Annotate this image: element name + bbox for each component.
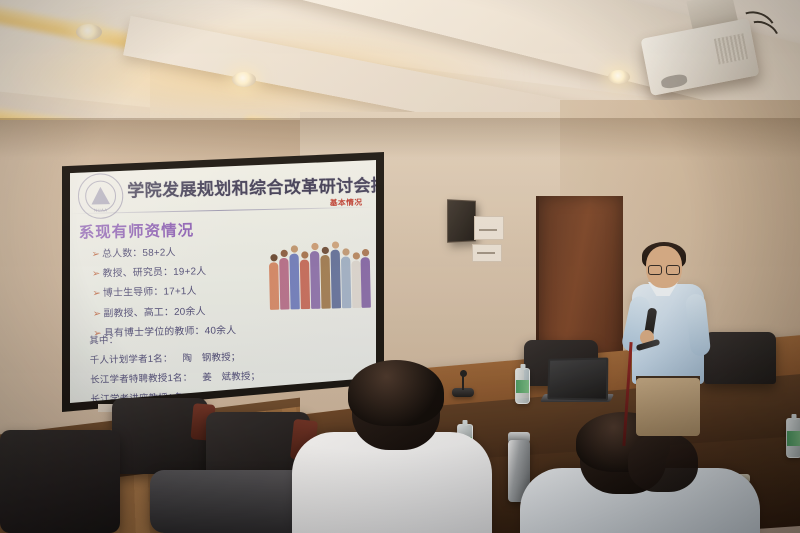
clipart-person-head [270, 254, 277, 261]
list-item: ➢博士生导师：17+1人 [92, 281, 288, 300]
seal-emblem-icon [91, 187, 110, 205]
bullet-marker-icon: ➢ [91, 249, 100, 261]
water-bottle-1 [515, 368, 530, 404]
microphone-head-icon [460, 370, 467, 377]
detail-role: 千人计划学者1名： [90, 353, 173, 365]
bottle-label [787, 431, 800, 446]
bullet-marker-icon: ➢ [92, 268, 101, 280]
clipart-person [330, 250, 341, 309]
audience-hair [348, 360, 444, 426]
glasses-icon [648, 265, 680, 273]
clipart-person [361, 257, 371, 308]
presenter-pants [636, 378, 700, 436]
conference-room-photo: 安全出口 NUAA 学院发展规划和综合改革研讨会控制系汇报 基本情况 系现有师资… [0, 0, 800, 533]
clipart-person-head [352, 252, 359, 259]
wall-panel-line-2 [477, 252, 495, 254]
clipart-person [269, 262, 279, 310]
clipart-person [320, 255, 330, 309]
projector-vent [714, 33, 748, 64]
wall-ceiling-shadow [0, 118, 800, 158]
group-of-people-illustration [267, 244, 371, 310]
clipart-person-head [290, 245, 297, 252]
microphone-stand [622, 342, 632, 446]
clipart-person [279, 258, 289, 310]
projector-lens [660, 73, 688, 90]
clipart-person [341, 257, 351, 309]
list-item: ➢总人数：58+2人 [91, 241, 287, 260]
clipart-person [300, 260, 310, 310]
bullet-text: 副教授、高工：20余人 [103, 306, 205, 320]
presentation-laptop[interactable] [547, 357, 608, 400]
clipart-person-head [331, 241, 338, 248]
wall-speaker [447, 199, 476, 243]
bullet-text: 教授、研究员：19+2人 [102, 266, 206, 280]
slide-heading: 系现有师资情况 [78, 219, 194, 243]
downlight-3 [608, 70, 630, 84]
clipart-person [310, 251, 321, 309]
clipart-person-head [311, 243, 318, 250]
wall-panel-lower [472, 244, 502, 262]
presentation-slide: NUAA 学院发展规划和综合改革研讨会控制系汇报 基本情况 系现有师资情况 ➢总… [70, 160, 376, 403]
bullet-marker-icon: ➢ [92, 288, 101, 300]
detail-name: 陶 钢教授； [172, 349, 240, 365]
audience-head [628, 432, 698, 492]
clipart-person-head [301, 251, 308, 258]
detail-role: 长江学者特聘教授1名： [90, 372, 192, 385]
list-item: 千人计划学者1名：陶 钢教授； [90, 346, 373, 367]
clipart-person-head [361, 249, 368, 256]
wall-panel-upper [474, 216, 504, 240]
clipart-person-head [321, 247, 328, 254]
downlight-1 [76, 24, 102, 40]
list-item: ➢副教授、高工：20余人 [93, 301, 289, 320]
clipart-person-head [342, 248, 349, 255]
bullet-text: 总人数：58+2人 [102, 247, 176, 260]
bullet-marker-icon: ➢ [93, 308, 102, 320]
detail-name: 姜 斌教授； [192, 368, 260, 384]
water-bottle-4 [786, 418, 800, 458]
bottle-label [516, 380, 529, 394]
list-item: ➢教授、研究员：19+2人 [92, 261, 288, 280]
projection-screen: NUAA 学院发展规划和综合改革研讨会控制系汇报 基本情况 系现有师资情况 ➢总… [70, 160, 376, 403]
leather-chair-3[interactable] [0, 430, 120, 533]
bullet-text: 博士生导师：17+1人 [103, 286, 197, 299]
presenter [622, 246, 718, 436]
wall-panel-line-1 [479, 229, 497, 231]
clipart-person-head [280, 250, 287, 257]
clipart-person [289, 254, 299, 310]
downlight-2 [232, 72, 256, 87]
